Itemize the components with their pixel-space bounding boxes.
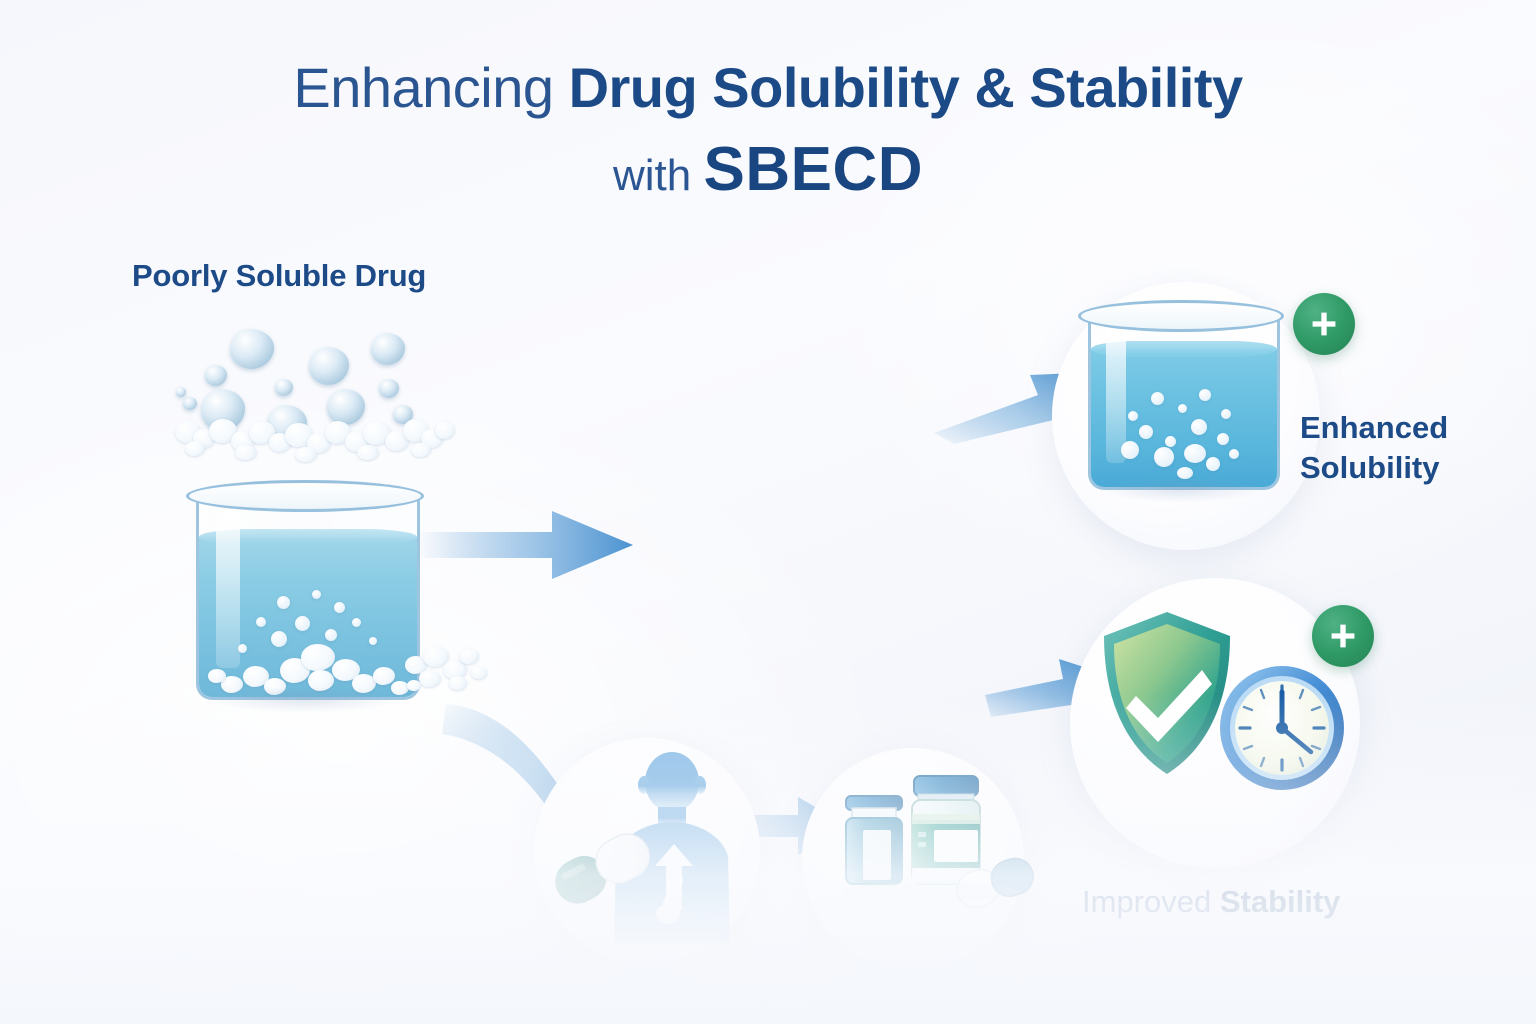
label-improved-regular: Improved (1082, 884, 1220, 919)
title-line1-light: Enhancing (293, 56, 568, 119)
label-enhanced-solubility: Enhanced Solubility (1300, 408, 1448, 487)
arrow-right-icon (420, 505, 635, 585)
title-line1-bold: Drug Solubility & Stability (569, 56, 1243, 119)
drug-crystal-pile-icon (175, 325, 460, 465)
capsule-pill-icon (544, 830, 664, 906)
green-plus-badge-icon (1312, 605, 1374, 667)
label-poorly-soluble-drug: Poorly Soluble Drug (132, 258, 426, 294)
page-title: Enhancing Drug Solubility & Stability wi… (0, 58, 1536, 203)
title-line2-light: with (613, 151, 703, 200)
title-line2-bold: SBECD (703, 135, 923, 204)
label-enhanced-line2: Solubility (1300, 448, 1448, 488)
label-enhanced-line1: Enhanced (1300, 408, 1448, 448)
clock-icon (1218, 664, 1346, 792)
beaker-clear-solution-icon (1088, 312, 1274, 487)
infographic-canvas: Enhancing Drug Solubility & Stability wi… (0, 0, 1536, 1024)
title-line-1: Enhancing Drug Solubility & Stability (0, 58, 1536, 117)
title-line-2: with SBECD (0, 137, 1536, 203)
green-plus-badge-icon (1293, 293, 1355, 355)
label-improved-stability: Improved Stability (1082, 884, 1340, 920)
shield-checkmark-icon (1096, 608, 1238, 778)
medicine-bottles-icon (826, 758, 1036, 938)
beaker-with-undissolved-crystals-icon (196, 492, 414, 697)
label-improved-bold: Stability (1220, 884, 1341, 919)
